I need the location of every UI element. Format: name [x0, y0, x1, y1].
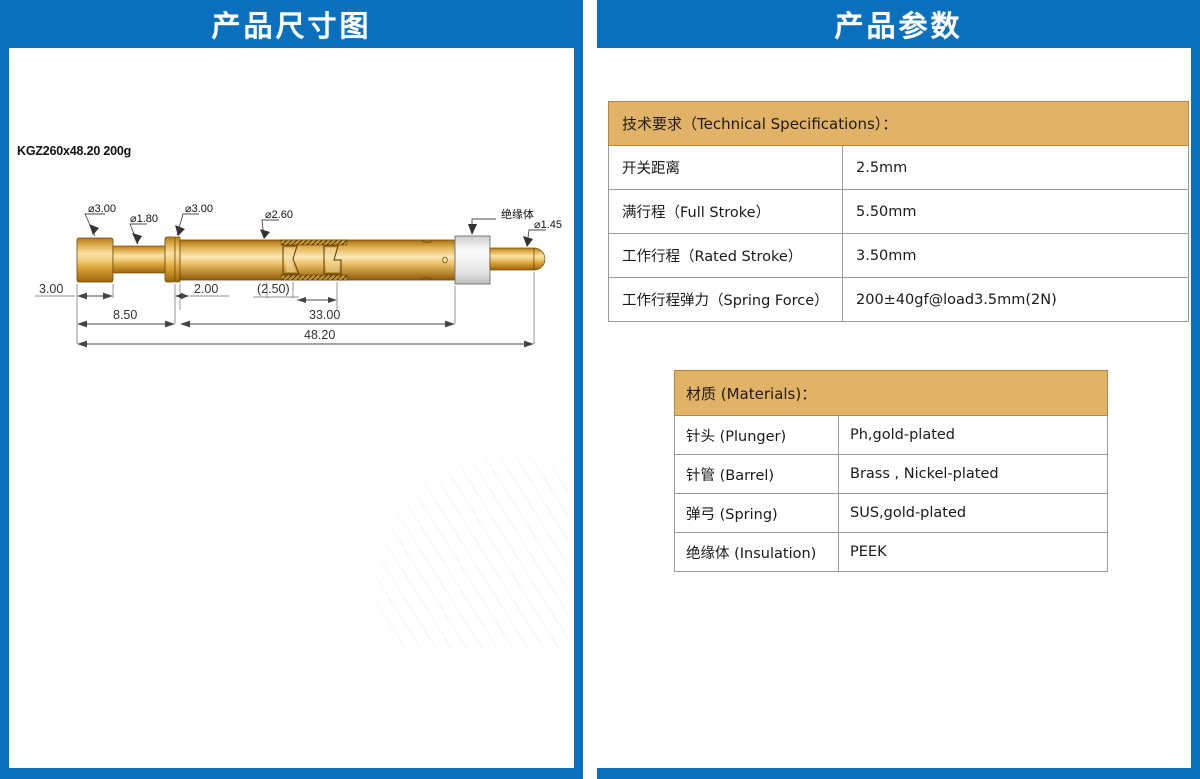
- page-title-left: 产品尺寸图: [211, 3, 371, 45]
- table-row: 满行程（Full Stroke） 5.50mm: [609, 190, 1189, 234]
- pin-technical-drawing: KGZ260x48.20 200g: [9, 48, 574, 348]
- material-value-spring: SUS,gold-plated: [839, 494, 1108, 533]
- header-bar-parameters: 产品参数: [597, 0, 1200, 48]
- material-label-spring: 弹弓 (Spring): [675, 494, 839, 533]
- diameter-label-3: ⌀3.00: [185, 203, 213, 215]
- technical-specifications-table: 技术要求（Technical Specifications）： 开关距离 2.5…: [608, 101, 1189, 322]
- spec-label-rated-stroke: 工作行程（Rated Stroke）: [609, 234, 843, 278]
- materials-table-header: 材质 (Materials)：: [675, 371, 1108, 416]
- spec-table-header: 技术要求（Technical Specifications）：: [609, 102, 1189, 146]
- spec-label-switch-distance: 开关距离: [609, 146, 843, 190]
- diameter-label-2: ⌀1.80: [130, 213, 158, 225]
- table-row: 工作行程弹力（Spring Force） 200±40gf@load3.5mm(…: [609, 278, 1189, 322]
- table-row: 弹弓 (Spring) SUS,gold-plated: [675, 494, 1108, 533]
- spec-value-spring-force: 200±40gf@load3.5mm(2N): [843, 278, 1189, 322]
- materials-table: 材质 (Materials)： 针头 (Plunger) Ph,gold-pla…: [674, 370, 1108, 572]
- table-header-row: 技术要求（Technical Specifications）：: [609, 102, 1189, 146]
- dimension-8-50: 8.50: [113, 308, 137, 322]
- dimension-2-50: (2.50): [257, 282, 290, 296]
- material-label-barrel: 针管 (Barrel): [675, 455, 839, 494]
- table-row: 绝缘体 (Insulation) PEEK: [675, 533, 1108, 572]
- dimension-48-20: 48.20: [304, 328, 335, 342]
- spec-label-spring-force: 工作行程弹力（Spring Force）: [609, 278, 843, 322]
- spec-value-full-stroke: 5.50mm: [843, 190, 1189, 234]
- dimension-33-00: 33.00: [309, 308, 340, 322]
- spec-value-rated-stroke: 3.50mm: [843, 234, 1189, 278]
- material-value-barrel: Brass , Nickel-plated: [839, 455, 1108, 494]
- parameters-panel: 技术要求（Technical Specifications）： 开关距离 2.5…: [597, 48, 1200, 779]
- page-title-right: 产品参数: [834, 3, 962, 45]
- table-row: 开关距离 2.5mm: [609, 146, 1189, 190]
- dimension-3-00: 3.00: [39, 282, 63, 296]
- spec-label-full-stroke: 满行程（Full Stroke）: [609, 190, 843, 234]
- dimension-2-00: 2.00: [194, 282, 218, 296]
- dimension-drawing-panel: KGZ260x48.20 200g: [0, 48, 583, 779]
- spec-value-switch-distance: 2.5mm: [843, 146, 1189, 190]
- header-bar-dimension-drawing: 产品尺寸图: [0, 0, 583, 48]
- diameter-label-1: ⌀3.00: [88, 203, 116, 215]
- insulator-callout-label: 绝缘体: [501, 207, 534, 221]
- table-row: 针头 (Plunger) Ph,gold-plated: [675, 416, 1108, 455]
- material-label-insulation: 绝缘体 (Insulation): [675, 533, 839, 572]
- material-label-plunger: 针头 (Plunger): [675, 416, 839, 455]
- table-row: 工作行程（Rated Stroke） 3.50mm: [609, 234, 1189, 278]
- product-spec-sheet: 产品尺寸图 产品参数 KGZ260x48.20 200g: [0, 0, 1200, 779]
- diameter-label-5: ⌀1.45: [534, 219, 562, 231]
- table-row: 针管 (Barrel) Brass , Nickel-plated: [675, 455, 1108, 494]
- table-header-row: 材质 (Materials)：: [675, 371, 1108, 416]
- material-value-insulation: PEEK: [839, 533, 1108, 572]
- material-value-plunger: Ph,gold-plated: [839, 416, 1108, 455]
- watermark: [358, 438, 568, 648]
- spring-probe-drawing-svg: ⌀3.00 ⌀1.80 ⌀3.00 ⌀2.60 绝缘体: [9, 48, 574, 348]
- diameter-label-4: ⌀2.60: [265, 209, 293, 221]
